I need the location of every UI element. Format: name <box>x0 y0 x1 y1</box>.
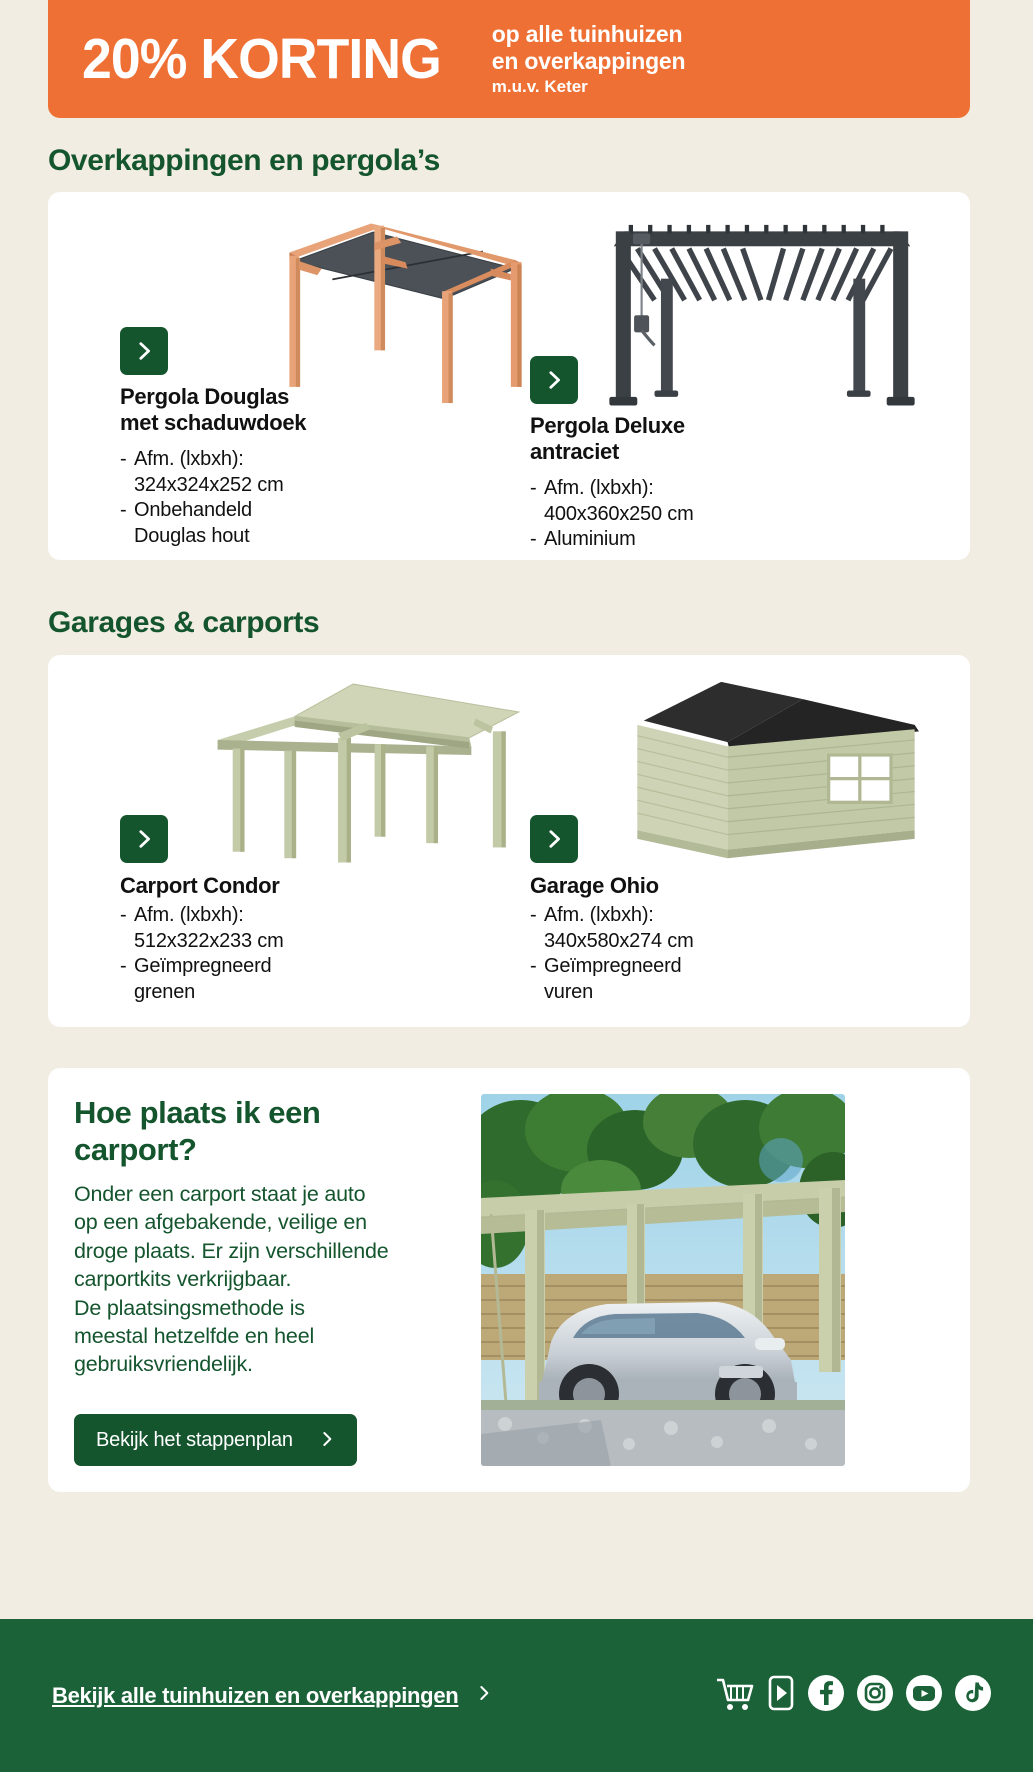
carport-condor-specs: Afm. (lxbxh): 512x322x233 cm Geïmpregnee… <box>120 903 284 1005</box>
garage-ohio-image <box>558 669 966 884</box>
google-play-icon[interactable] <box>765 1673 797 1718</box>
pergola-deluxe-name: Pergola Deluxe antraciet <box>530 413 685 465</box>
product-tile-carport-condor[interactable]: Carport Condor Afm. (lxbxh): 512x322x233… <box>70 655 478 1027</box>
product-name-line-2: antraciet <box>530 439 619 464</box>
howto-title-line-1: Hoe plaats ik een <box>74 1095 320 1130</box>
footer-all-products-link[interactable]: Bekijk alle tuinhuizen en overkappingen <box>52 1682 492 1710</box>
chevron-right-icon <box>319 1429 335 1452</box>
footer-social-icons <box>714 1673 993 1718</box>
spec-label: Afm. (lxbxh): <box>544 904 654 926</box>
carport-condor-arrow-button[interactable] <box>120 815 168 863</box>
spec-value: vuren <box>544 980 694 1006</box>
promo-sub-line-2: en overkappingen <box>492 48 686 75</box>
product-card-garages: Carport Condor Afm. (lxbxh): 512x322x233… <box>48 655 970 1027</box>
chevron-right-icon <box>543 828 565 850</box>
promo-sub-line-1: op alle tuinhuizen <box>492 21 686 48</box>
promo-banner: 20% KORTING op alle tuinhuizen en overka… <box>48 0 970 118</box>
tiktok-icon[interactable] <box>953 1673 993 1718</box>
spec-item: Onbehandeld Douglas hout <box>120 498 284 549</box>
howto-body-line: De plaatsingsmethode is <box>74 1294 454 1322</box>
spec-label: Onbehandeld <box>134 499 252 521</box>
shopping-cart-icon[interactable] <box>714 1673 756 1718</box>
howto-title-line-2: carport? <box>74 1132 197 1167</box>
pergola-deluxe-specs: Afm. (lxbxh): 400x360x250 cm Aluminium <box>530 476 694 553</box>
section-title-garages: Garages & carports <box>48 606 319 640</box>
product-name-line-1: Pergola Douglas <box>120 384 289 409</box>
spec-value: 400x360x250 cm <box>544 502 694 528</box>
spec-value: Douglas hout <box>134 524 284 550</box>
youtube-icon[interactable] <box>904 1673 944 1718</box>
howto-carport-photo <box>481 1094 845 1466</box>
product-name-line-1: Carport Condor <box>120 873 280 898</box>
garage-ohio-arrow-button[interactable] <box>530 815 578 863</box>
spec-value: 324x324x252 cm <box>134 473 284 499</box>
facebook-icon[interactable] <box>806 1673 846 1718</box>
spec-label: Afm. (lxbxh): <box>134 448 244 470</box>
spec-item: Afm. (lxbxh): 400x360x250 cm <box>530 476 694 527</box>
product-tile-pergola-deluxe[interactable]: Pergola Deluxe antraciet Afm. (lxbxh): 4… <box>480 192 888 560</box>
instagram-icon[interactable] <box>855 1673 895 1718</box>
howto-body-line: meestal hetzelfde en heel <box>74 1322 454 1350</box>
spec-label: Geïmpregneerd <box>134 955 271 977</box>
howto-body-line: gebruiksvriendelijk. <box>74 1350 454 1378</box>
pergola-douglas-arrow-button[interactable] <box>120 327 168 375</box>
pergola-douglas-specs: Afm. (lxbxh): 324x324x252 cm Onbehandeld… <box>120 447 284 549</box>
carport-condor-name: Carport Condor <box>120 873 280 899</box>
howto-cta-button[interactable]: Bekijk het stappenplan <box>74 1414 357 1466</box>
spec-label: Afm. (lxbxh): <box>544 477 654 499</box>
garage-ohio-specs: Afm. (lxbxh): 340x580x274 cm Geïmpregnee… <box>530 903 694 1005</box>
pergola-deluxe-image <box>558 212 966 427</box>
chevron-right-icon <box>133 828 155 850</box>
spec-value: 512x322x233 cm <box>134 929 284 955</box>
promo-subtext: op alle tuinhuizen en overkappingen m.u.… <box>492 21 686 97</box>
pergola-douglas-name: Pergola Douglas met schaduwdoek <box>120 384 306 436</box>
spec-label: Aluminium <box>544 528 636 550</box>
product-card-pergolas: Pergola Douglas met schaduwdoek Afm. (lx… <box>48 192 970 560</box>
chevron-right-icon <box>476 1682 492 1710</box>
howto-body-line: Onder een carport staat je auto <box>74 1180 454 1208</box>
spec-value: 340x580x274 cm <box>544 929 694 955</box>
garage-ohio-name: Garage Ohio <box>530 873 659 899</box>
chevron-right-icon <box>543 369 565 391</box>
spec-item: Afm. (lxbxh): 324x324x252 cm <box>120 447 284 498</box>
promo-sub-line-3: m.u.v. Keter <box>492 77 686 97</box>
product-tile-garage-ohio[interactable]: Garage Ohio Afm. (lxbxh): 340x580x274 cm… <box>480 655 888 1027</box>
product-tile-pergola-douglas[interactable]: Pergola Douglas met schaduwdoek Afm. (lx… <box>70 192 478 560</box>
spec-label: Geïmpregneerd <box>544 955 681 977</box>
promo-headline: 20% KORTING <box>82 31 441 88</box>
footer-bar: Bekijk alle tuinhuizen en overkappingen <box>0 1619 1033 1772</box>
spec-item: Geïmpregneerd vuren <box>530 954 694 1005</box>
howto-body-line: op een afgebakende, veilige en <box>74 1208 454 1236</box>
spec-label: Afm. (lxbxh): <box>134 904 244 926</box>
footer-link-label: Bekijk alle tuinhuizen en overkappingen <box>52 1683 458 1709</box>
howto-cta-label: Bekijk het stappenplan <box>96 1429 293 1452</box>
promo-flyer-page: 20% KORTING op alle tuinhuizen en overka… <box>0 0 1033 1772</box>
spec-item: Afm. (lxbxh): 512x322x233 cm <box>120 903 284 954</box>
section-title-overkappingen: Overkappingen en pergola’s <box>48 144 440 178</box>
howto-body-text: Onder een carport staat je auto op een a… <box>74 1180 454 1379</box>
pergola-deluxe-arrow-button[interactable] <box>530 356 578 404</box>
spec-item: Geïmpregneerd grenen <box>120 954 284 1005</box>
product-name-line-1: Garage Ohio <box>530 873 659 898</box>
product-name-line-2: met schaduwdoek <box>120 410 306 435</box>
product-name-line-1: Pergola Deluxe <box>530 413 685 438</box>
spec-item: Aluminium <box>530 527 694 553</box>
howto-title: Hoe plaats ik een carport? <box>74 1094 394 1168</box>
spec-item: Afm. (lxbxh): 340x580x274 cm <box>530 903 694 954</box>
spec-value: grenen <box>134 980 284 1006</box>
chevron-right-icon <box>133 340 155 362</box>
howto-body-line: carportkits verkrijgbaar. <box>74 1265 454 1293</box>
howto-body-line: droge plaats. Er zijn verschillende <box>74 1237 454 1265</box>
